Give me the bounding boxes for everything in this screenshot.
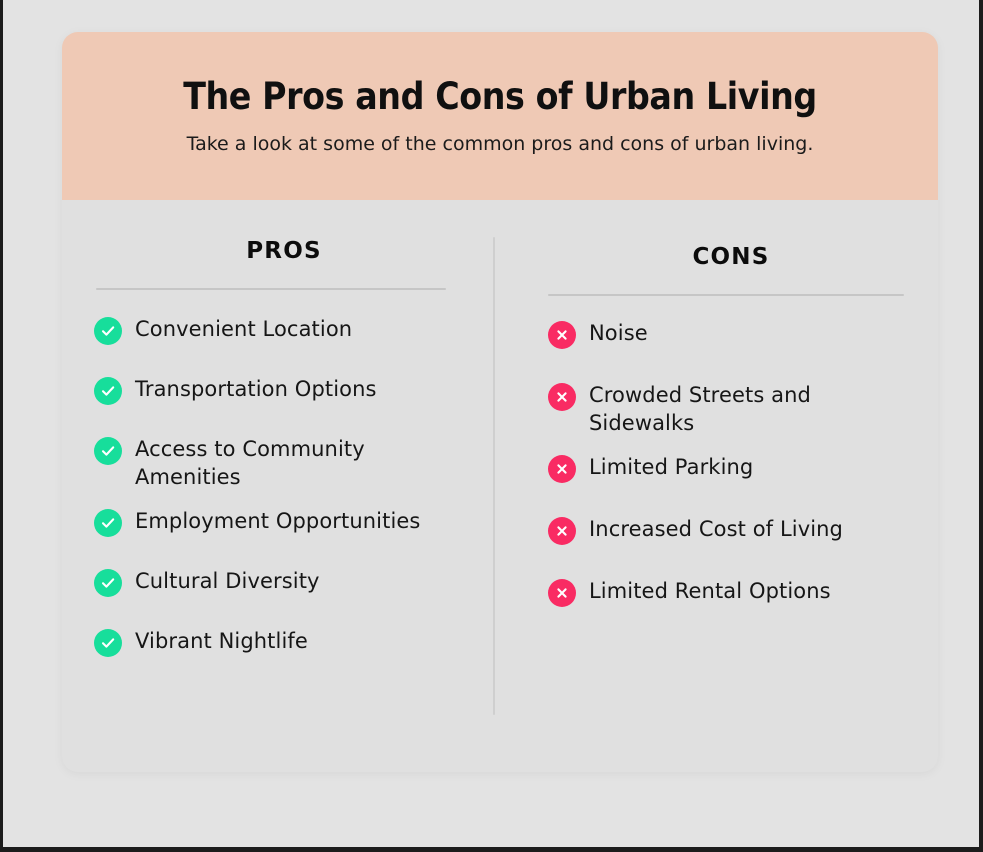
list-item-label: Convenient Location — [135, 314, 352, 343]
list-item[interactable]: Cultural Diversity — [94, 566, 474, 612]
list-item[interactable]: Vibrant Nightlife — [94, 626, 474, 672]
check-circle-icon — [94, 377, 122, 405]
list-item-label: Increased Cost of Living — [589, 514, 843, 543]
cons-column: CONS Noise Crowded Streets and Sidewalks — [494, 200, 938, 772]
list-item[interactable]: Transportation Options — [94, 374, 474, 420]
list-item-label: Vibrant Nightlife — [135, 626, 308, 655]
page-title: The Pros and Cons of Urban Living — [62, 76, 938, 119]
check-circle-icon — [94, 437, 122, 465]
list-item-label: Limited Parking — [589, 452, 753, 481]
list-item-label: Cultural Diversity — [135, 566, 320, 595]
pros-heading-rule — [96, 288, 446, 290]
list-item-label: Crowded Streets and Sidewalks — [589, 380, 914, 438]
card-header: The Pros and Cons of Urban Living Take a… — [62, 32, 938, 200]
list-item-label: Access to Community Amenities — [135, 434, 474, 492]
list-item[interactable]: Crowded Streets and Sidewalks — [548, 380, 914, 438]
list-item[interactable]: Employment Opportunities — [94, 506, 474, 552]
list-item[interactable]: Convenient Location — [94, 314, 474, 360]
x-circle-icon — [548, 579, 576, 607]
x-circle-icon — [548, 517, 576, 545]
x-circle-icon — [548, 383, 576, 411]
list-item-label: Noise — [589, 318, 648, 347]
pros-column: PROS Convenient Location Transportation … — [62, 200, 494, 772]
page-surface: The Pros and Cons of Urban Living Take a… — [3, 0, 979, 847]
list-item[interactable]: Access to Community Amenities — [94, 434, 474, 492]
cons-heading-rule — [548, 294, 904, 296]
list-item[interactable]: Limited Parking — [548, 452, 914, 500]
list-item-label: Employment Opportunities — [135, 506, 420, 535]
check-circle-icon — [94, 509, 122, 537]
x-circle-icon — [548, 321, 576, 349]
check-circle-icon — [94, 629, 122, 657]
pros-and-cons-card: The Pros and Cons of Urban Living Take a… — [62, 32, 938, 772]
pros-heading: PROS — [94, 200, 474, 264]
list-item[interactable]: Noise — [548, 318, 914, 366]
list-item-label: Limited Rental Options — [589, 576, 831, 605]
check-circle-icon — [94, 569, 122, 597]
check-circle-icon — [94, 317, 122, 345]
card-body: PROS Convenient Location Transportation … — [62, 200, 938, 772]
page-subtitle: Take a look at some of the common pros a… — [62, 133, 938, 156]
window-frame-bottom-edge — [0, 847, 983, 852]
list-item[interactable]: Increased Cost of Living — [548, 514, 914, 562]
cons-heading: CONS — [548, 200, 914, 270]
window-frame-right-edge — [979, 0, 983, 852]
pros-list: Convenient Location Transportation Optio… — [94, 314, 474, 672]
cons-list: Noise Crowded Streets and Sidewalks Limi… — [548, 318, 914, 624]
x-circle-icon — [548, 455, 576, 483]
list-item-label: Transportation Options — [135, 374, 377, 403]
list-item[interactable]: Limited Rental Options — [548, 576, 914, 624]
